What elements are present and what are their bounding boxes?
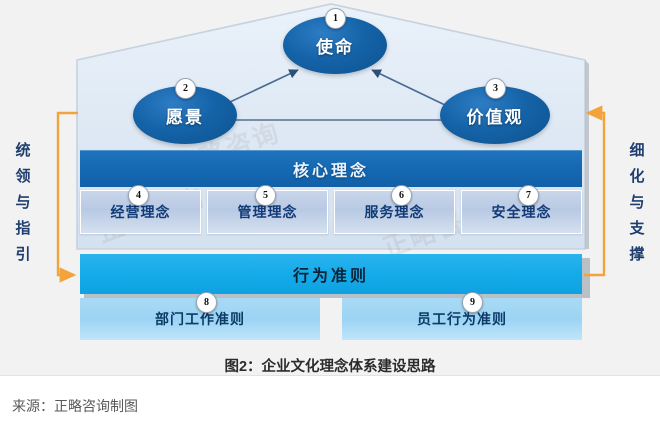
core-concept-label: 核心理念	[293, 157, 369, 181]
behaviour-code-bar[interactable]: 行为准则	[80, 254, 582, 294]
side-label-left-char: 指	[10, 216, 36, 242]
behaviour-item-row: 部门工作准则 员工行为准则	[80, 298, 582, 340]
side-label-right-char: 与	[624, 190, 650, 216]
badge-2: 2	[175, 78, 196, 99]
badge-4: 4	[128, 185, 149, 206]
side-label-left-char: 与	[10, 190, 36, 216]
concept-box-safety-label: 安全理念	[492, 202, 552, 222]
figure-source: 来源：正略咨询制图	[12, 396, 138, 416]
side-label-right-char: 支	[624, 216, 650, 242]
side-label-left-char: 引	[10, 242, 36, 268]
badge-6: 6	[391, 185, 412, 206]
badge-7: 7	[518, 185, 539, 206]
badge-8: 8	[196, 292, 217, 313]
side-label-left-char: 领	[10, 164, 36, 190]
concept-box-service-label: 服务理念	[365, 202, 425, 222]
side-label-right-char: 撑	[624, 242, 650, 268]
ellipse-values-label: 价值观	[467, 103, 524, 128]
badge-1: 1	[325, 8, 346, 29]
figure-caption: 图2：企业文化理念体系建设思路	[0, 355, 660, 376]
side-label-left: 统 领 与 指 引	[10, 138, 36, 268]
behaviour-item-department-label: 部门工作准则	[155, 309, 245, 329]
figure-canvas: 正略咨询 正略咨询 正略咨询 使命 1 愿景 2 价值观 3 核心理念 经营理念…	[0, 0, 660, 376]
behaviour-code-label: 行为准则	[293, 262, 369, 286]
side-label-right-char: 化	[624, 164, 650, 190]
behaviour-item-employee-label: 员工行为准则	[417, 309, 507, 329]
badge-9: 9	[462, 292, 483, 313]
badge-5: 5	[255, 185, 276, 206]
figure-page: 正略咨询 正略咨询 正略咨询 使命 1 愿景 2 价值观 3 核心理念 经营理念…	[0, 0, 660, 429]
side-label-right: 细 化 与 支 撑	[624, 138, 650, 268]
side-label-left-char: 统	[10, 138, 36, 164]
ellipse-mission-label: 使命	[316, 33, 354, 58]
side-label-right-char: 细	[624, 138, 650, 164]
core-concept-bar[interactable]: 核心理念	[80, 150, 582, 187]
concept-box-row: 经营理念 管理理念 服务理念 安全理念	[80, 190, 582, 234]
badge-3: 3	[485, 78, 506, 99]
ellipse-vision-label: 愿景	[166, 103, 204, 128]
